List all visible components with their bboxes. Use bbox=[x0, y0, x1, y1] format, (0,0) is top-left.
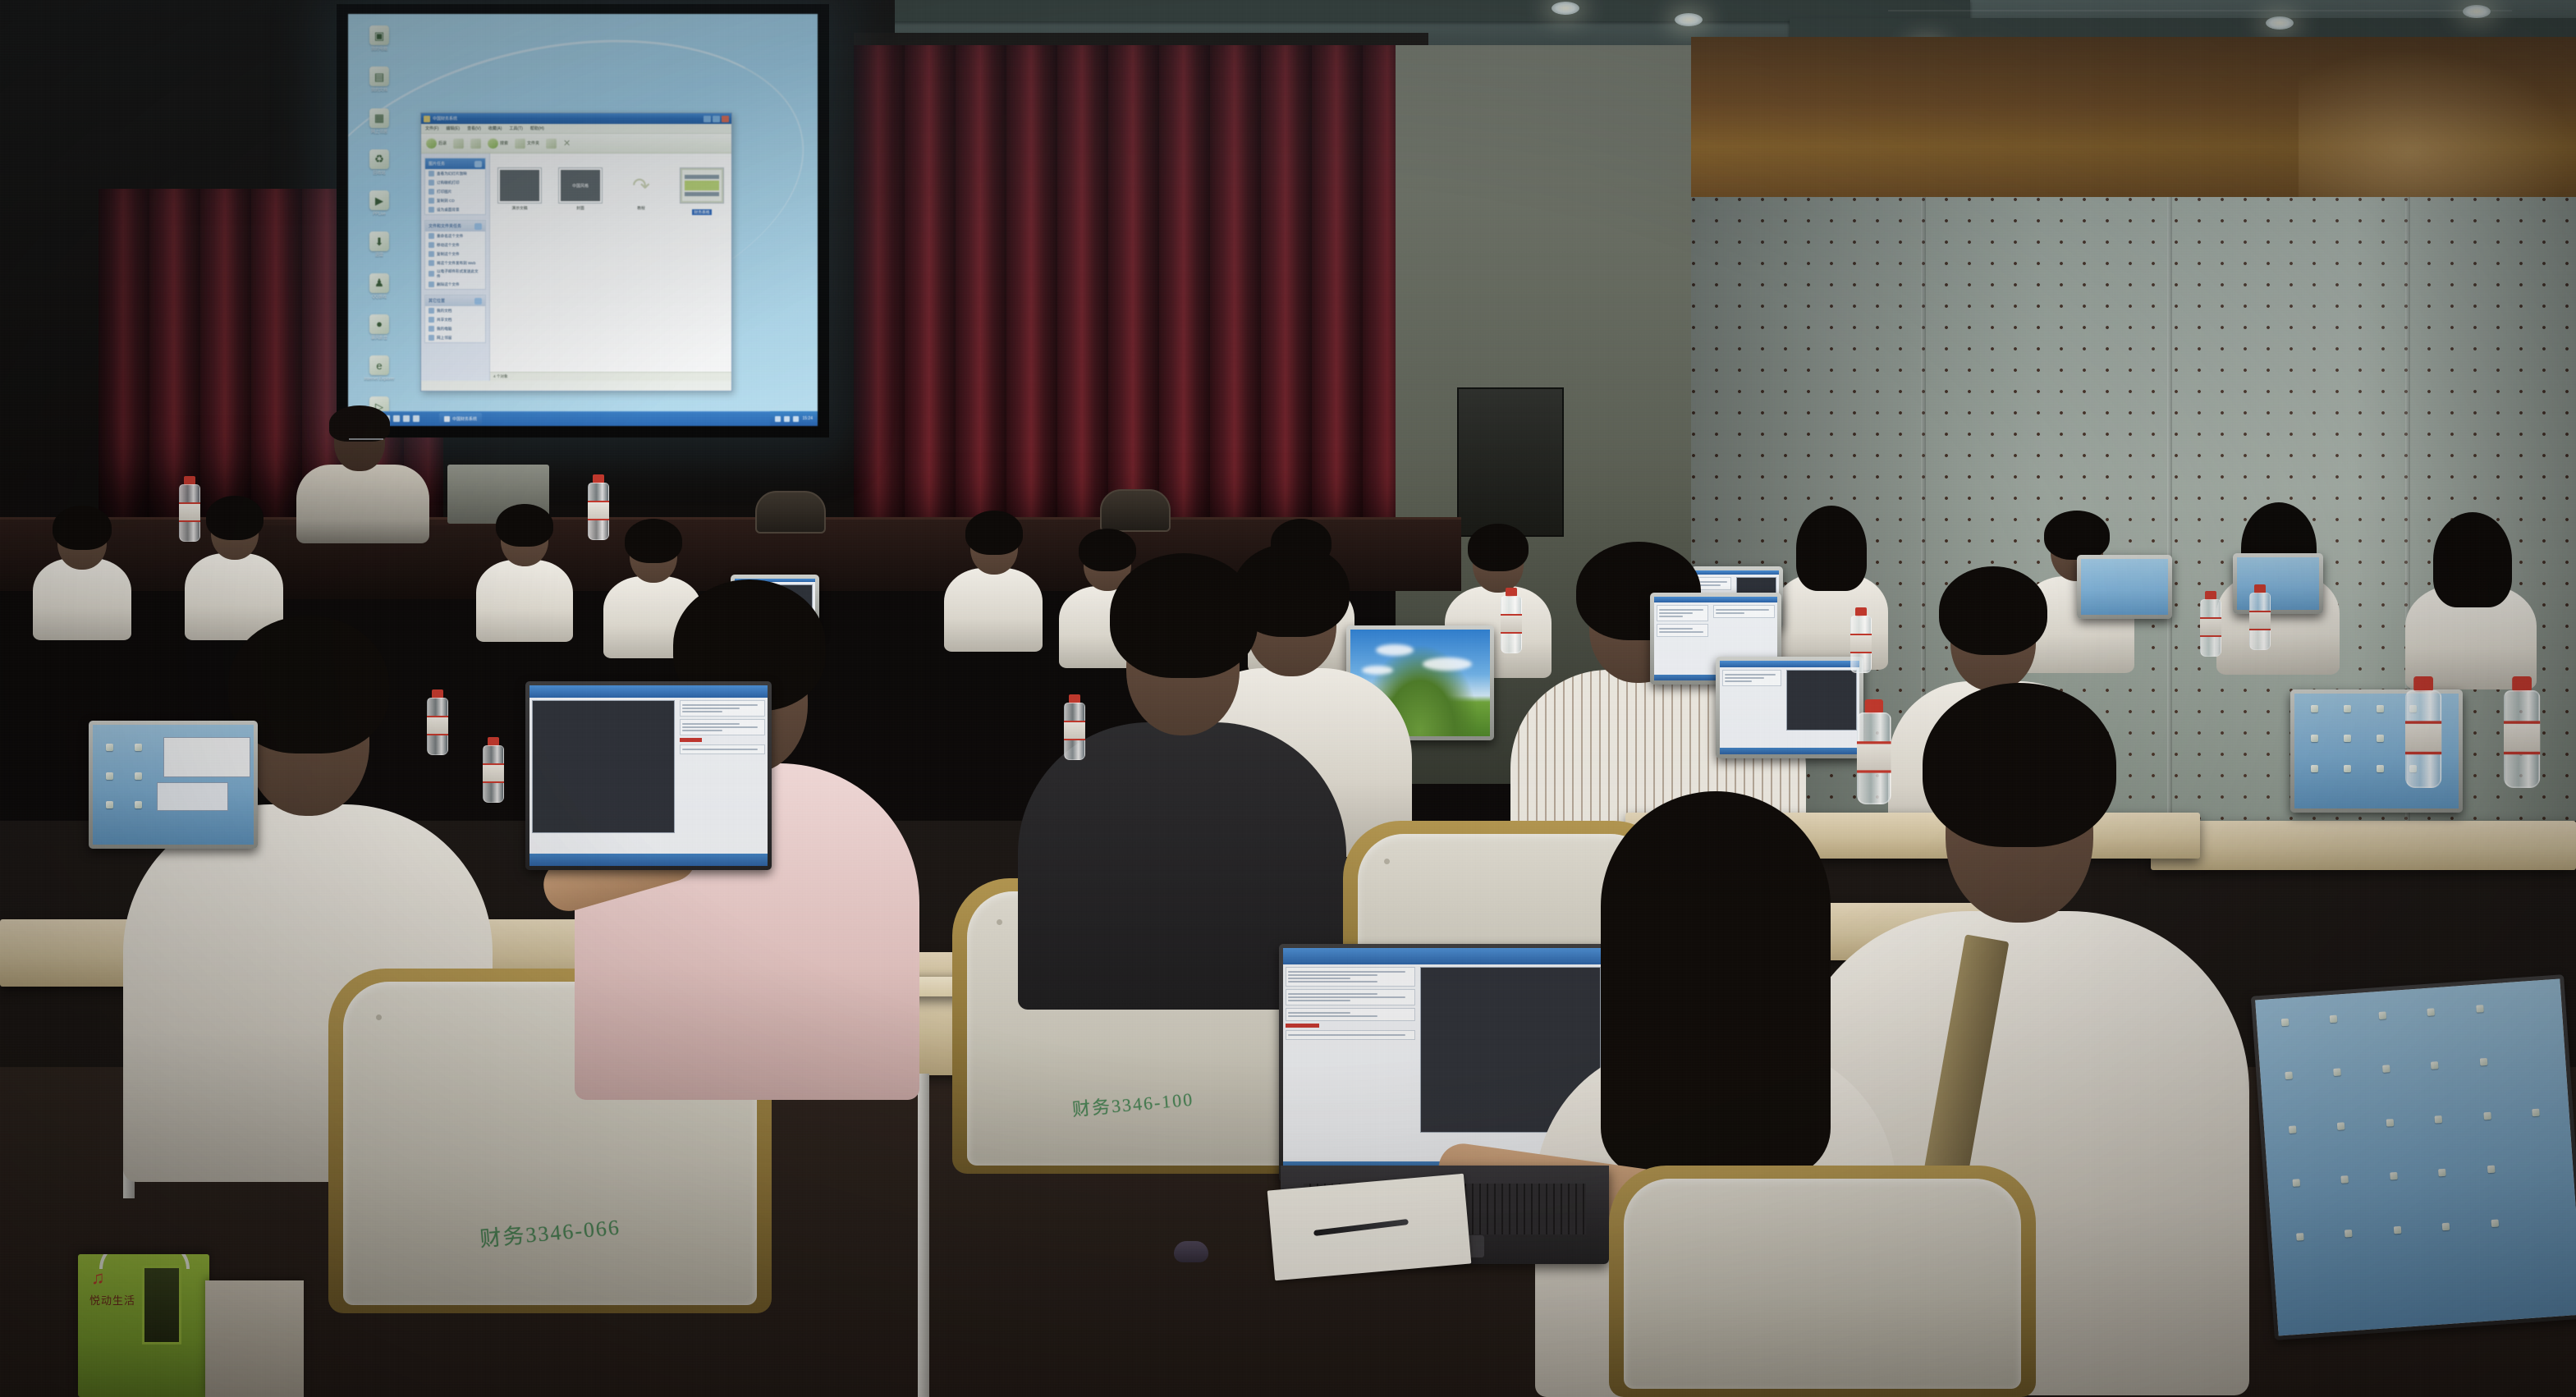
copy-icon bbox=[429, 251, 434, 257]
task-sidebar: 图片任务 查看为幻灯片放映 订购联机打印 打印图片 复制到 CD 设为桌面背景 bbox=[421, 153, 490, 381]
network-places-icon: ▦ bbox=[369, 108, 389, 128]
menu-item-view[interactable]: 查看(V) bbox=[467, 126, 481, 131]
desktop-icon-label: 网上邻居 bbox=[356, 130, 402, 135]
cloud bbox=[1423, 657, 1472, 671]
sidebar-item-label: 共享文档 bbox=[437, 318, 451, 323]
close-icon[interactable] bbox=[722, 116, 729, 122]
file-item[interactable]: 演示文稿 bbox=[498, 168, 541, 211]
bottle-cap bbox=[1865, 699, 1883, 714]
sidebar-item-label: 查看为幻灯片放映 bbox=[437, 172, 467, 176]
maximize-icon[interactable] bbox=[713, 116, 720, 122]
laptop-lid bbox=[89, 721, 258, 849]
window-body: 图片任务 查看为幻灯片放映 订购联机打印 打印图片 复制到 CD 设为桌面背景 bbox=[421, 153, 731, 381]
desktop-icon-label: 我的文档 bbox=[356, 88, 402, 93]
storm-player-icon: ● bbox=[369, 314, 389, 334]
stage-chair bbox=[755, 491, 826, 534]
close-x-icon: ✕ bbox=[563, 138, 571, 149]
file-thumbnail bbox=[681, 168, 723, 203]
laptop-screen[interactable] bbox=[529, 685, 768, 866]
water-bottle bbox=[427, 689, 448, 755]
sidebar-item[interactable]: 删除这个文件 bbox=[425, 280, 485, 289]
window-app-icon bbox=[424, 116, 430, 122]
file-name-label: 封面 bbox=[559, 205, 602, 211]
laptop-screen[interactable] bbox=[93, 725, 254, 845]
attendee-hair bbox=[53, 506, 112, 550]
input-method-icon[interactable] bbox=[793, 416, 799, 422]
laptop[interactable] bbox=[525, 681, 772, 870]
sidebar-section-title: 其它位置 bbox=[429, 298, 445, 304]
sidebar-item[interactable]: 复制到 CD bbox=[425, 196, 485, 205]
sidebar-item-label: 网上邻居 bbox=[437, 336, 451, 341]
file-name-label: 教程 bbox=[620, 205, 662, 211]
app-statusbar bbox=[529, 854, 768, 866]
presenter-torso bbox=[296, 465, 429, 543]
bottle-cap bbox=[2413, 676, 2433, 692]
laptop-lid bbox=[525, 681, 772, 870]
sidebar-item[interactable]: 订购联机打印 bbox=[425, 178, 485, 187]
chair-backrest-pad bbox=[1624, 1179, 2021, 1389]
sidebar-section-picture-tasks: 图片任务 查看为幻灯片放映 订购联机打印 打印图片 复制到 CD 设为桌面背景 bbox=[424, 158, 486, 215]
presenter-glasses bbox=[349, 438, 383, 446]
chair-tuft bbox=[997, 919, 1002, 925]
app-alert-bar bbox=[680, 738, 702, 742]
shared-documents-icon bbox=[429, 317, 434, 323]
attendee bbox=[2405, 512, 2537, 689]
app-form-pane bbox=[677, 698, 768, 853]
app-body bbox=[529, 698, 768, 853]
gift-bag[interactable]: ♫ 悦动生活 bbox=[78, 1254, 209, 1397]
attendee-hair bbox=[496, 504, 553, 547]
table-leg bbox=[918, 1074, 929, 1397]
sidebar-section-header[interactable]: 图片任务 bbox=[425, 158, 485, 169]
file-name-label-selected: 财务表格 bbox=[692, 209, 711, 215]
thumbnail-overlay-text: 中国风格 bbox=[572, 183, 589, 189]
sidebar-section-title: 文件和文件夹任务 bbox=[429, 223, 461, 229]
chair-tuft bbox=[376, 1015, 382, 1020]
desktop-icon[interactable]: ▦ 网上邻居 bbox=[356, 108, 402, 135]
app-titlebar bbox=[529, 685, 768, 698]
sidebar-item[interactable]: 共享文档 bbox=[425, 315, 485, 324]
thumbnail-band bbox=[685, 192, 719, 196]
desktop-icon-label: QQ游戏 bbox=[356, 295, 402, 300]
attendee-body bbox=[33, 558, 131, 640]
app-canvas bbox=[532, 700, 675, 832]
toolbar-views-button[interactable] bbox=[546, 138, 557, 149]
window-controls[interactable] bbox=[704, 116, 729, 122]
delete-icon bbox=[429, 282, 434, 287]
desktop-icon[interactable]: ♟ QQ游戏 bbox=[356, 273, 402, 300]
desktop-icon[interactable]: ▤ 我的文档 bbox=[356, 66, 402, 93]
sidebar-item[interactable]: 重命名这个文件 bbox=[425, 231, 485, 240]
app-left-pane bbox=[1654, 602, 1711, 675]
sidebar-item[interactable]: 移动这个文件 bbox=[425, 240, 485, 250]
sidebar-section-header[interactable]: 其它位置 bbox=[425, 295, 485, 306]
chair-code-label: 财务3346-100 bbox=[967, 1075, 1299, 1130]
thumbnail-band bbox=[685, 175, 719, 179]
internet-explorer-icon: e bbox=[369, 355, 389, 375]
sidebar-item-label: 以电子邮件形式发送此文件 bbox=[437, 269, 482, 278]
file-grid: 演示文稿 中国风格 封面 ↷ 教程 bbox=[498, 168, 723, 218]
sidebar-item[interactable]: 将这个文件发布到 Web bbox=[425, 259, 485, 268]
taskbar-window-button[interactable]: 中国财务系统 bbox=[439, 413, 482, 424]
attendee-hair bbox=[625, 519, 682, 563]
toolbar[interactable]: 后退 搜索 文件夹 bbox=[421, 134, 731, 153]
back-arrow-icon bbox=[426, 138, 437, 149]
bottle-label bbox=[1850, 634, 1872, 653]
bottle-label bbox=[2504, 721, 2540, 754]
clock[interactable]: 15:24 bbox=[802, 416, 813, 421]
menu-item-edit[interactable]: 编辑(E) bbox=[446, 126, 460, 131]
copy-to-cd-icon bbox=[429, 198, 434, 204]
chevron-up-icon[interactable] bbox=[474, 223, 482, 230]
water-bottle bbox=[1501, 588, 1522, 653]
attendee-hair bbox=[1601, 791, 1831, 1177]
wall-speaker bbox=[1457, 387, 1564, 537]
chair-tuft bbox=[1384, 859, 1390, 864]
desktop-icon-label: Internet Explorer bbox=[356, 377, 402, 382]
file-thumbnail: 中国风格 bbox=[559, 168, 602, 203]
file-name-label: 演示文稿 bbox=[498, 205, 541, 211]
laptop-lid bbox=[2251, 974, 2576, 1340]
desktop-wallpaper bbox=[2255, 979, 2576, 1336]
attendee-dark-shirt bbox=[1018, 550, 1346, 1010]
projected-desktop: ▣ 我的电脑 ▤ 我的文档 ▦ 网上邻居 ♻ 回收站 ▶ PPLive bbox=[348, 14, 818, 426]
water-bottle bbox=[2504, 676, 2540, 788]
attendee-hair bbox=[1923, 683, 2116, 847]
water-bottle bbox=[2200, 591, 2221, 657]
ceiling-downlight bbox=[2463, 5, 2491, 18]
rename-icon bbox=[429, 233, 434, 239]
menu-item-tools[interactable]: 工具(T) bbox=[509, 126, 522, 131]
file-item[interactable]: 财务表格 bbox=[681, 168, 723, 218]
presenter-hair bbox=[329, 405, 390, 442]
ceiling-panel-line bbox=[1888, 10, 2512, 11]
attendee-hair bbox=[206, 496, 264, 540]
attendee-hair bbox=[2044, 511, 2110, 560]
my-computer-icon bbox=[429, 326, 434, 332]
chevron-up-icon[interactable] bbox=[474, 161, 482, 167]
my-computer-icon: ▣ bbox=[369, 25, 389, 45]
bottle-label bbox=[2200, 617, 2221, 637]
laptop[interactable] bbox=[89, 721, 258, 849]
water-bottle bbox=[1850, 607, 1872, 673]
chair-code-label: 财务3346-066 bbox=[343, 1198, 757, 1265]
sidebar-item-label: 移动这个文件 bbox=[437, 243, 460, 248]
sidebar-item[interactable]: 以电子邮件形式发送此文件 bbox=[425, 268, 485, 280]
menu-bar[interactable]: 文件(F) 编辑(E) 查看(V) 收藏(A) 工具(T) 帮助(H) bbox=[421, 124, 731, 134]
shortcut-icon: ↷ bbox=[620, 168, 662, 203]
sidebar-item-label: 复制到 CD bbox=[437, 199, 455, 204]
network-icon[interactable] bbox=[784, 416, 790, 422]
window-app-icon bbox=[444, 416, 450, 422]
sidebar-item[interactable]: 打印图片 bbox=[425, 187, 485, 196]
toolbar-search-button[interactable]: 搜索 bbox=[488, 138, 508, 149]
sidebar-section-other-places: 其它位置 我的文档 共享文档 我的电脑 网上邻居 bbox=[424, 295, 486, 343]
laptop-tablet[interactable] bbox=[2251, 974, 2576, 1340]
search-icon bbox=[488, 138, 498, 149]
sidebar-item[interactable]: 我的电脑 bbox=[425, 324, 485, 333]
desktop-icon-label: 回收站 bbox=[356, 171, 402, 176]
qq-games-icon: ♟ bbox=[369, 273, 389, 293]
my-documents-icon: ▤ bbox=[369, 66, 389, 86]
desktop-icon-label: 迅雷 bbox=[356, 253, 402, 258]
sidebar-item-label: 我的电脑 bbox=[437, 327, 451, 332]
explorer-window[interactable]: 中国财务系统 文件(F) 编辑(E) 查看(V) 收藏(A) 工具(T) 帮助(… bbox=[420, 112, 732, 392]
attendee-hair bbox=[965, 511, 1023, 555]
bag-window bbox=[142, 1266, 181, 1344]
sidebar-item-label: 将这个文件发布到 Web bbox=[437, 261, 475, 266]
sidebar-item[interactable]: 查看为幻灯片放映 bbox=[425, 169, 485, 178]
laptop-lid bbox=[2233, 553, 2323, 614]
sidebar-item[interactable]: 设为桌面背景 bbox=[425, 205, 485, 214]
bottle-label bbox=[1501, 614, 1522, 634]
bottle-cap bbox=[2512, 676, 2532, 692]
ceiling-downlight bbox=[2266, 16, 2294, 30]
bottle-label bbox=[1064, 721, 1085, 740]
sidebar-item-label: 设为桌面背景 bbox=[437, 208, 460, 213]
sidebar-item-label: 删除这个文件 bbox=[437, 282, 460, 287]
toolbar-forward-button[interactable] bbox=[453, 138, 464, 149]
desktop-icon[interactable]: ▣ 我的电脑 bbox=[356, 25, 402, 52]
desktop-icon[interactable]: ⬇ 迅雷 bbox=[356, 231, 402, 258]
order-prints-icon bbox=[429, 180, 434, 186]
move-icon bbox=[429, 242, 434, 248]
sidebar-item[interactable]: 我的文档 bbox=[425, 306, 485, 315]
app-left-pane bbox=[1720, 667, 1784, 748]
desktop-wallpaper bbox=[93, 725, 254, 845]
pplive-icon: ▶ bbox=[369, 190, 389, 210]
thumbnail-band bbox=[685, 181, 719, 190]
app-canvas-pane bbox=[529, 698, 677, 853]
volume-icon[interactable] bbox=[775, 416, 781, 422]
computer-mouse[interactable] bbox=[1174, 1241, 1208, 1262]
toolbar-folders-label: 文件夹 bbox=[527, 140, 539, 146]
banquet-chair[interactable] bbox=[1609, 1166, 2036, 1397]
file-thumbnail bbox=[498, 168, 541, 203]
attendee-hair bbox=[1939, 566, 2047, 655]
chevron-up-icon[interactable] bbox=[474, 298, 482, 305]
attendee-hair bbox=[2433, 512, 2512, 607]
window-titlebar[interactable]: 中国财务系统 bbox=[421, 113, 731, 124]
my-documents-icon bbox=[429, 308, 434, 314]
water-bottle bbox=[2249, 584, 2271, 650]
slideshow-icon bbox=[429, 171, 434, 176]
attendee-hair bbox=[1110, 553, 1258, 678]
attendee bbox=[33, 501, 131, 640]
sidebar-section-file-tasks: 文件和文件夹任务 重命名这个文件 移动这个文件 复制这个文件 将这个文件发布到 … bbox=[424, 220, 486, 290]
projection-screen-frame: ▣ 我的电脑 ▤ 我的文档 ▦ 网上邻居 ♻ 回收站 ▶ PPLive bbox=[337, 4, 829, 437]
system-tray[interactable]: 15:24 bbox=[770, 411, 818, 426]
sidebar-item[interactable]: 网上邻居 bbox=[425, 333, 485, 342]
bottle-label bbox=[483, 763, 504, 783]
dialog-box[interactable] bbox=[157, 782, 227, 811]
paper-bag[interactable] bbox=[205, 1280, 304, 1397]
water-bottle bbox=[2405, 676, 2441, 788]
sidebar-item-label: 重命名这个文件 bbox=[437, 234, 463, 239]
sidebar-item-label: 打印图片 bbox=[437, 190, 451, 195]
desktop-icon-label: 我的电脑 bbox=[356, 47, 402, 52]
sidebar-item-label: 我的文档 bbox=[437, 309, 451, 314]
network-places-icon bbox=[429, 335, 434, 341]
bottle-label bbox=[427, 716, 448, 735]
status-bar: 4 个对象 bbox=[490, 372, 731, 381]
desktop-icon[interactable]: ▶ PPLive bbox=[356, 190, 402, 217]
stage-curtain-right bbox=[854, 45, 1428, 554]
laptop[interactable] bbox=[2233, 553, 2323, 614]
water-bottle bbox=[1064, 694, 1085, 760]
sidebar-section-header[interactable]: 文件和文件夹任务 bbox=[425, 221, 485, 231]
folder-icon bbox=[515, 138, 525, 149]
ceiling-downlight bbox=[1552, 2, 1579, 15]
desktop-icon[interactable]: ● 暴风影音 bbox=[356, 314, 402, 341]
bag-brand-label: 悦动生活 bbox=[89, 1292, 135, 1308]
sidebar-section-title: 图片任务 bbox=[429, 161, 445, 167]
toolbar-back-button[interactable]: 后退 bbox=[426, 138, 447, 149]
print-icon bbox=[429, 189, 434, 195]
views-icon bbox=[546, 138, 557, 149]
thunder-download-icon: ⬇ bbox=[369, 231, 389, 251]
bottle-label bbox=[2405, 721, 2441, 754]
bottle-label bbox=[2249, 611, 2271, 630]
status-text: 4 个对象 bbox=[493, 374, 508, 379]
classroom-photo: ▣ 我的电脑 ▤ 我的文档 ▦ 网上邻居 ♻ 回收站 ▶ PPLive bbox=[0, 0, 2576, 1397]
toolbar-extra-button[interactable]: ✕ bbox=[563, 138, 571, 149]
laptop-screen[interactable] bbox=[2255, 979, 2576, 1336]
forward-arrow-icon bbox=[453, 138, 464, 149]
desktop-icon[interactable]: e Internet Explorer bbox=[356, 355, 402, 382]
toolbar-back-label: 后退 bbox=[438, 140, 447, 146]
file-item[interactable]: 中国风格 封面 bbox=[559, 168, 602, 211]
desktop-icon[interactable]: ♻ 回收站 bbox=[356, 149, 402, 176]
file-item[interactable]: ↷ 教程 bbox=[620, 168, 662, 211]
stage-chair bbox=[1100, 489, 1171, 532]
set-wallpaper-icon bbox=[429, 207, 434, 213]
water-bottle bbox=[1857, 699, 1891, 804]
bottle-label bbox=[1857, 741, 1891, 772]
toolbar-up-button[interactable] bbox=[470, 138, 481, 149]
sidebar-item-label: 订购联机打印 bbox=[437, 181, 460, 186]
email-icon bbox=[429, 271, 434, 277]
wall-light-glow bbox=[2299, 49, 2576, 222]
toolbar-search-label: 搜索 bbox=[500, 140, 508, 146]
presenter bbox=[291, 410, 439, 542]
attendee-hair bbox=[1796, 506, 1867, 591]
menu-item-help[interactable]: 帮助(H) bbox=[530, 126, 544, 131]
desktop-icon-label: PPLive bbox=[356, 212, 402, 217]
menu-item-favorites[interactable]: 收藏(A) bbox=[488, 126, 502, 131]
open-window[interactable] bbox=[163, 737, 250, 778]
ceiling-downlight bbox=[1675, 13, 1703, 26]
menu-item-file[interactable]: 文件(F) bbox=[425, 126, 438, 131]
minimize-icon[interactable] bbox=[704, 116, 711, 122]
recycle-bin-icon: ♻ bbox=[369, 149, 389, 169]
window-title: 中国财务系统 bbox=[433, 116, 457, 121]
up-arrow-icon bbox=[470, 138, 481, 149]
app-titlebar bbox=[1720, 661, 1859, 667]
bag-logo-icon: ♫ bbox=[91, 1267, 105, 1289]
toolbar-folders-button[interactable]: 文件夹 bbox=[515, 138, 539, 149]
taskbar-window-label: 中国财务系统 bbox=[452, 416, 477, 422]
sidebar-item[interactable]: 复制这个文件 bbox=[425, 250, 485, 259]
sidebar-item-label: 复制这个文件 bbox=[437, 252, 460, 257]
water-bottle bbox=[483, 737, 504, 803]
publish-web-icon bbox=[429, 260, 434, 266]
desktop-icon-label: 暴风影音 bbox=[356, 336, 402, 341]
app-titlebar bbox=[1654, 597, 1777, 602]
file-list-pane[interactable]: 演示文稿 中国风格 封面 ↷ 教程 bbox=[490, 153, 731, 381]
